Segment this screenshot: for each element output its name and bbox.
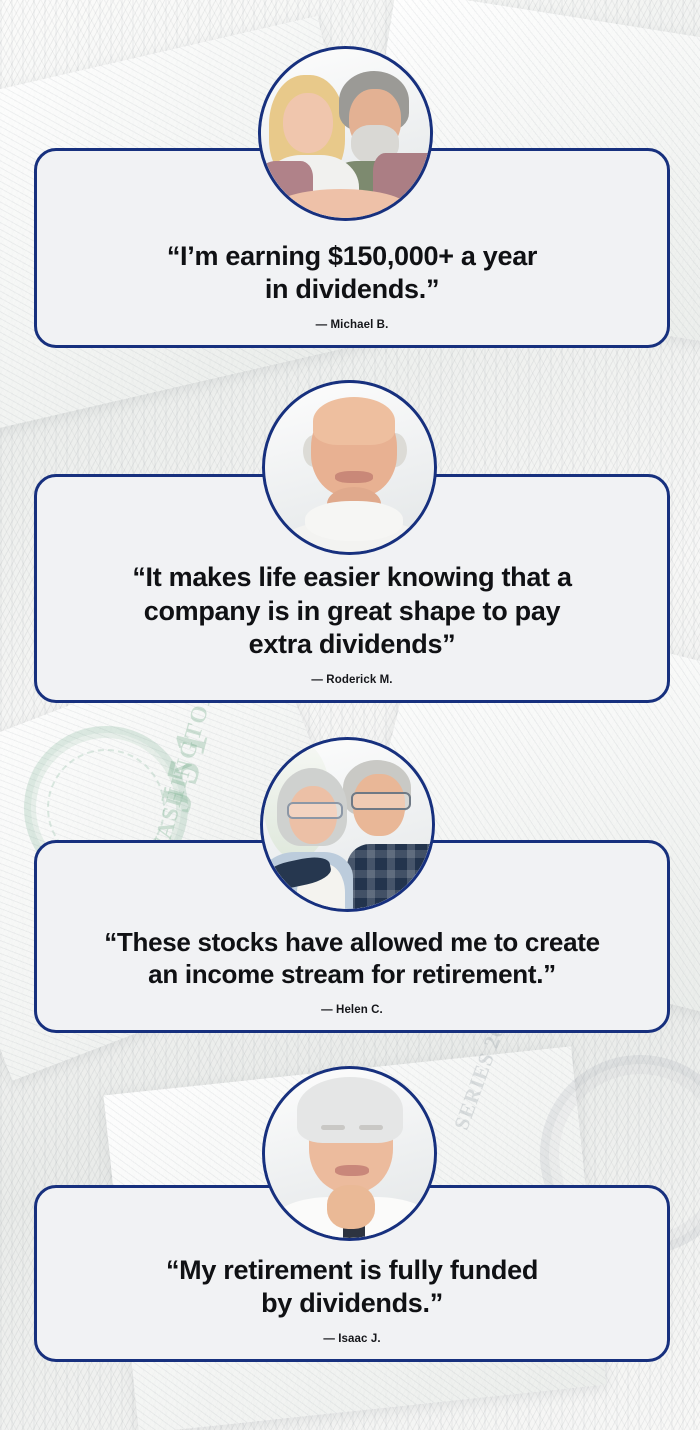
testimonial-quote: “These stocks have allowed me to create … — [63, 927, 641, 991]
avatar — [262, 380, 437, 555]
testimonial-attribution: — Helen C. — [63, 1004, 641, 1016]
quote-line: “It makes life easier knowing that a — [132, 562, 571, 592]
testimonial-body: “It makes life easier knowing that a com… — [37, 561, 667, 700]
testimonial-attribution: — Isaac J. — [63, 1333, 641, 1345]
testimonial-attribution: — Michael B. — [63, 319, 641, 331]
quote-line: extra dividends” — [249, 629, 456, 659]
avatar-photo-helen — [263, 740, 432, 909]
avatar — [262, 1066, 437, 1241]
testimonial-body: “My retirement is fully funded by divide… — [37, 1254, 667, 1359]
quote-line: “My retirement is fully funded — [166, 1255, 538, 1285]
quote-line: “These stocks have allowed me to create — [104, 927, 600, 957]
testimonial-quote: “My retirement is fully funded by divide… — [63, 1254, 641, 1320]
avatar-photo-michael — [261, 49, 430, 218]
quote-line: company is in great shape to pay — [144, 596, 561, 626]
avatar-photo-roderick — [265, 383, 434, 552]
quote-line: “I’m earning $150,000+ a year — [167, 241, 537, 271]
testimonials-page: WASHINGTON J51 SERIES 2003 “I’m earning … — [0, 0, 700, 1430]
testimonial-body: “I’m earning $150,000+ a year in dividen… — [37, 240, 667, 345]
avatar — [258, 46, 433, 221]
avatar — [260, 737, 435, 912]
testimonial-quote: “It makes life easier knowing that a com… — [63, 561, 641, 661]
quote-line: in dividends.” — [265, 274, 439, 304]
quote-line: an income stream for retirement.” — [148, 959, 556, 989]
testimonial-body: “These stocks have allowed me to create … — [37, 927, 667, 1030]
testimonial-quote: “I’m earning $150,000+ a year in dividen… — [63, 240, 641, 306]
testimonial-attribution: — Roderick M. — [63, 674, 641, 686]
quote-line: by dividends.” — [261, 1288, 443, 1318]
testimonial-list: “I’m earning $150,000+ a year in dividen… — [0, 0, 700, 1430]
avatar-photo-isaac — [265, 1069, 434, 1238]
